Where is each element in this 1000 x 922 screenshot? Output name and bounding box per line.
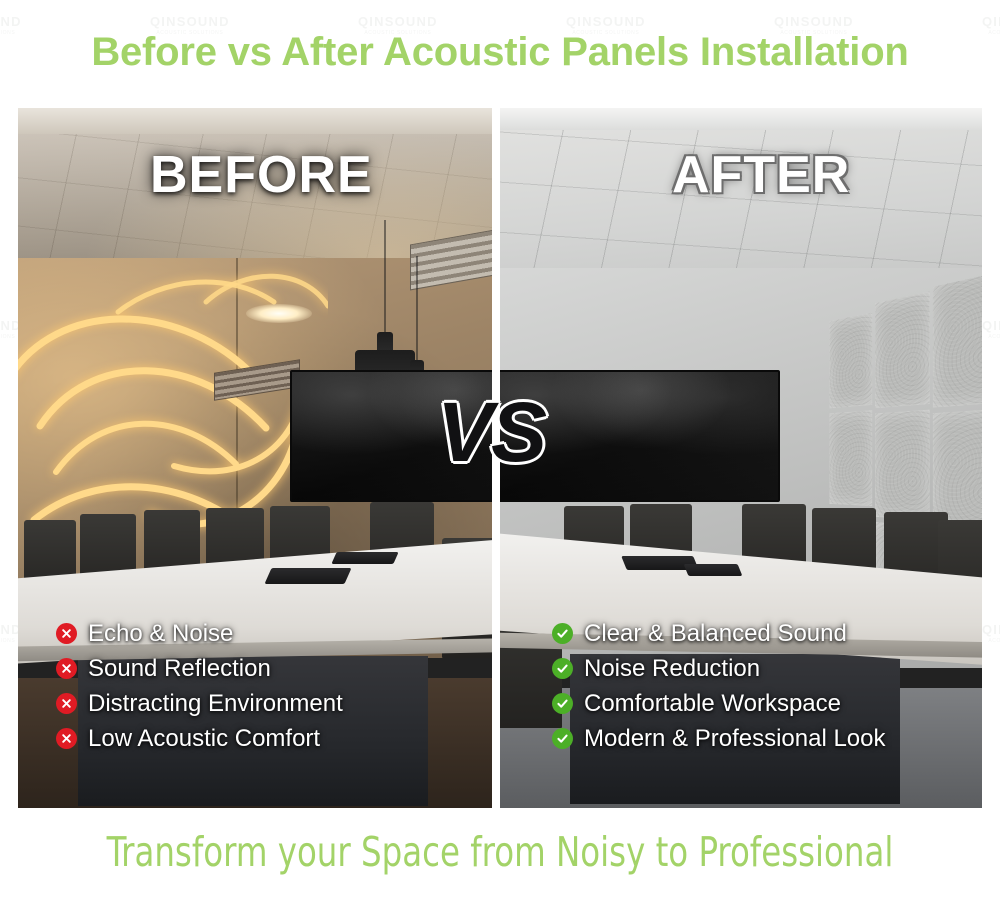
- cross-icon: [56, 728, 77, 749]
- acoustic-panel: [933, 276, 982, 408]
- pendant-cord: [417, 256, 418, 364]
- acoustic-panel: [830, 312, 873, 408]
- check-icon: [552, 728, 573, 749]
- ceiling-soffit: [18, 108, 492, 134]
- acoustic-panel: [875, 291, 930, 408]
- list-item: Modern & Professional Look: [552, 725, 886, 752]
- acoustic-panel: [875, 410, 930, 521]
- list-item: Echo & Noise: [56, 620, 343, 647]
- laptop-device: [331, 552, 398, 564]
- feature-label: Low Acoustic Comfort: [88, 725, 320, 753]
- page-title: Before vs After Acoustic Panels Installa…: [0, 30, 1000, 75]
- list-item: Sound Reflection: [56, 655, 343, 682]
- ceiling-downlight: [246, 304, 312, 323]
- list-item: Low Acoustic Comfort: [56, 725, 343, 752]
- acoustic-panel: [830, 410, 873, 506]
- check-icon: [552, 623, 573, 644]
- vs-badge: VS: [437, 384, 545, 481]
- list-item: Clear & Balanced Sound: [552, 620, 886, 647]
- after-label: AFTER: [672, 145, 850, 205]
- feature-label: Modern & Professional Look: [584, 725, 886, 753]
- laptop-device: [264, 568, 351, 584]
- cross-icon: [56, 693, 77, 714]
- feature-label: Noise Reduction: [584, 655, 760, 683]
- after-feature-list: Clear & Balanced Sound Noise Reduction C…: [552, 620, 886, 760]
- laptop-device: [684, 564, 743, 576]
- list-item: Noise Reduction: [552, 655, 886, 682]
- before-label: BEFORE: [150, 145, 373, 205]
- before-feature-list: Echo & Noise Sound Reflection Distractin…: [56, 620, 343, 760]
- feature-label: Distracting Environment: [88, 690, 343, 718]
- promo-banner: Before vs After Acoustic Panels Installa…: [0, 0, 1000, 922]
- cross-icon: [56, 658, 77, 679]
- check-icon: [552, 658, 573, 679]
- watermark: QINSOUNDACOUSTIC SOLUTIONS: [982, 318, 1000, 340]
- feature-label: Comfortable Workspace: [584, 690, 841, 718]
- cross-icon: [56, 623, 77, 644]
- feature-label: Echo & Noise: [88, 620, 233, 648]
- list-item: Comfortable Workspace: [552, 690, 886, 717]
- list-item: Distracting Environment: [56, 690, 343, 717]
- tagline: Transform your Space from Noisy to Profe…: [60, 828, 940, 876]
- feature-label: Clear & Balanced Sound: [584, 620, 847, 648]
- ceiling-soffit: [500, 108, 982, 130]
- check-icon: [552, 693, 573, 714]
- watermark: QINSOUNDACOUSTIC SOLUTIONS: [982, 622, 1000, 644]
- feature-label: Sound Reflection: [88, 655, 271, 683]
